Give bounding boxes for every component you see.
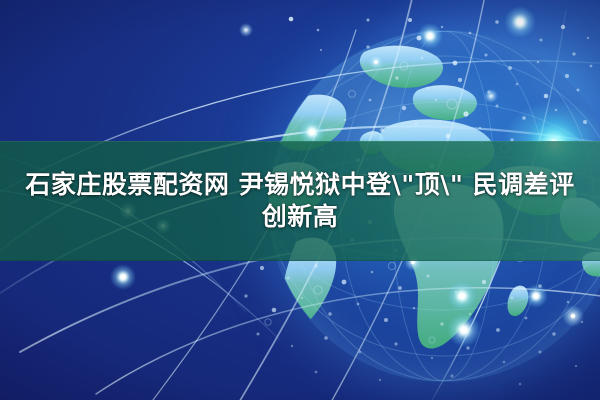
headline-text: 石家庄股票配资网 尹锡悦狱中登\"顶\" 民调差评 创新高 — [0, 141, 600, 261]
news-banner: 石家庄股票配资网 尹锡悦狱中登\"顶\" 民调差评 创新高 — [0, 0, 600, 400]
headline-line-1: 石家庄股票配资网 尹锡悦狱中登\"顶\" 民调差评 — [25, 169, 574, 201]
headline-line-2: 创新高 — [262, 201, 339, 233]
